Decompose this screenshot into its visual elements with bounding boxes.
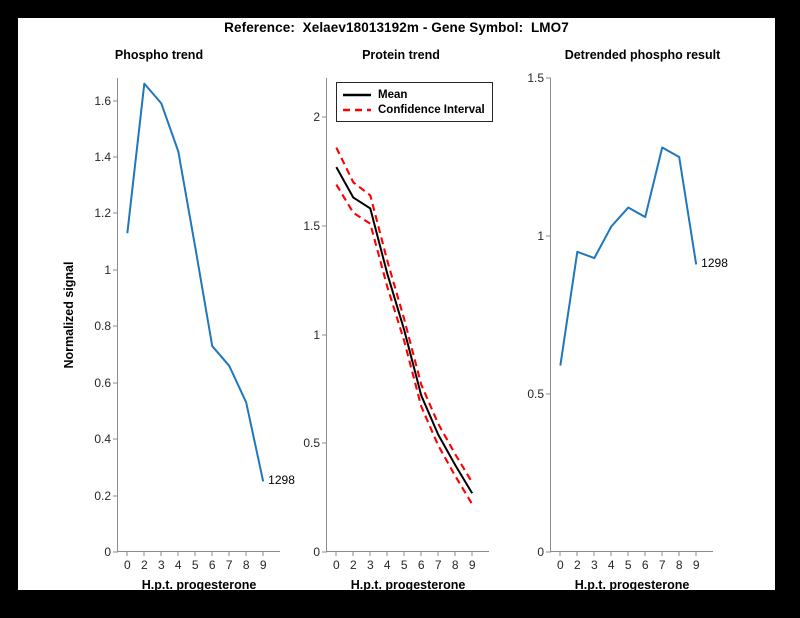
legend-label: Confidence Interval bbox=[378, 104, 485, 116]
legend: MeanConfidence Interval bbox=[336, 82, 493, 122]
y-axis-tick-mark bbox=[113, 157, 118, 158]
x-axis-tick-mark bbox=[455, 551, 456, 556]
x-axis-tick-mark bbox=[212, 551, 213, 556]
x-axis-tick-mark bbox=[560, 551, 561, 556]
y-axis-tick-mark bbox=[322, 117, 327, 118]
y-axis-tick-mark bbox=[322, 552, 327, 553]
y-axis-tick-mark bbox=[322, 443, 327, 444]
x-axis-tick-mark bbox=[178, 551, 179, 556]
y-axis-tick-mark bbox=[113, 552, 118, 553]
figure-canvas: Reference: Xelaev18013192m - Gene Symbol… bbox=[18, 18, 775, 590]
panel-title: Phospho trend bbox=[18, 48, 300, 62]
y-axis-tick-mark bbox=[546, 552, 551, 553]
series-canvas bbox=[118, 78, 281, 552]
series-line bbox=[336, 148, 472, 483]
x-axis-tick-label: 8 bbox=[452, 558, 459, 572]
x-axis-tick-mark bbox=[144, 551, 145, 556]
x-axis-tick-label: 5 bbox=[401, 558, 408, 572]
x-axis-label: H.p.t. progesterone bbox=[327, 578, 489, 592]
x-axis-tick-mark bbox=[353, 551, 354, 556]
y-axis-tick-mark bbox=[113, 213, 118, 214]
x-axis-tick-mark bbox=[679, 551, 680, 556]
x-axis-tick-mark bbox=[336, 551, 337, 556]
series-canvas bbox=[551, 78, 714, 552]
y-axis-tick-mark bbox=[113, 495, 118, 496]
x-axis-tick-mark bbox=[161, 551, 162, 556]
legend-entry[interactable]: Mean bbox=[342, 87, 485, 102]
x-axis-tick-label: 5 bbox=[192, 558, 199, 572]
x-axis-tick-mark bbox=[195, 551, 196, 556]
x-axis-tick-label: 0 bbox=[557, 558, 564, 572]
y-axis-tick-mark bbox=[546, 394, 551, 395]
x-axis-tick-label: 9 bbox=[469, 558, 476, 572]
x-axis-tick-label: 8 bbox=[243, 558, 250, 572]
x-axis-tick-label: 7 bbox=[226, 558, 233, 572]
x-axis-tick-mark bbox=[472, 551, 473, 556]
x-axis-tick-label: 4 bbox=[608, 558, 615, 572]
x-axis-tick-mark bbox=[263, 551, 264, 556]
y-axis-tick-mark bbox=[113, 100, 118, 101]
x-axis-tick-mark bbox=[438, 551, 439, 556]
panel-phospho-trend: Phospho trend Normalized signal 00.20.40… bbox=[18, 18, 300, 590]
x-axis-tick-label: 0 bbox=[333, 558, 340, 572]
series-canvas bbox=[327, 78, 490, 552]
panel-detrended-phospho-result: Detrended phospho result 00.511.50234567… bbox=[510, 18, 775, 590]
y-axis-tick-mark bbox=[322, 334, 327, 335]
plot-box: 00.511.52023456789H.p.t. progesteroneMea… bbox=[326, 78, 489, 552]
x-axis-tick-label: 5 bbox=[625, 558, 632, 572]
x-axis-tick-mark bbox=[404, 551, 405, 556]
y-axis-tick-mark bbox=[113, 382, 118, 383]
x-axis-tick-label: 7 bbox=[659, 558, 666, 572]
figure-frame: Reference: Xelaev18013192m - Gene Symbol… bbox=[0, 0, 800, 618]
dashed-line-icon bbox=[342, 105, 372, 115]
y-axis-label: Normalized signal bbox=[62, 262, 76, 369]
plot-box: 00.20.40.60.811.21.41.6023456789H.p.t. p… bbox=[117, 78, 280, 552]
x-axis-tick-label: 2 bbox=[350, 558, 357, 572]
y-axis-tick-mark bbox=[113, 326, 118, 327]
x-axis-tick-label: 4 bbox=[175, 558, 182, 572]
x-axis-label: H.p.t. progesterone bbox=[118, 578, 280, 592]
legend-entry[interactable]: Confidence Interval bbox=[342, 102, 485, 117]
x-axis-tick-mark bbox=[387, 551, 388, 556]
panel-title: Detrended phospho result bbox=[510, 48, 775, 62]
x-axis-tick-label: 9 bbox=[260, 558, 267, 572]
x-axis-tick-label: 6 bbox=[642, 558, 649, 572]
y-axis-tick-mark bbox=[546, 78, 551, 79]
series-line bbox=[336, 185, 472, 505]
x-axis-tick-mark bbox=[127, 551, 128, 556]
x-axis-tick-label: 6 bbox=[418, 558, 425, 572]
y-axis-tick-mark bbox=[322, 225, 327, 226]
x-axis-tick-label: 4 bbox=[384, 558, 391, 572]
x-axis-tick-mark bbox=[662, 551, 663, 556]
panel-protein-trend: Protein trend 00.511.52023456789H.p.t. p… bbox=[270, 18, 532, 590]
x-axis-tick-mark bbox=[628, 551, 629, 556]
x-axis-tick-label: 2 bbox=[141, 558, 148, 572]
y-axis-tick-mark bbox=[113, 269, 118, 270]
x-axis-tick-mark bbox=[246, 551, 247, 556]
x-axis-tick-mark bbox=[645, 551, 646, 556]
x-axis-tick-label: 9 bbox=[693, 558, 700, 572]
x-axis-tick-mark bbox=[611, 551, 612, 556]
x-axis-tick-mark bbox=[421, 551, 422, 556]
x-axis-tick-label: 2 bbox=[574, 558, 581, 572]
panel-title: Protein trend bbox=[270, 48, 532, 62]
x-axis-tick-mark bbox=[577, 551, 578, 556]
x-axis-tick-mark bbox=[229, 551, 230, 556]
x-axis-tick-mark bbox=[696, 551, 697, 556]
x-axis-tick-label: 0 bbox=[124, 558, 131, 572]
y-axis-tick-mark bbox=[546, 236, 551, 237]
series-end-label: 1298 bbox=[701, 256, 728, 270]
y-axis-tick-mark bbox=[113, 439, 118, 440]
solid-line-icon bbox=[342, 90, 372, 100]
x-axis-tick-label: 3 bbox=[158, 558, 165, 572]
x-axis-tick-mark bbox=[594, 551, 595, 556]
series-line bbox=[127, 84, 263, 482]
series-line bbox=[560, 148, 696, 366]
x-axis-label: H.p.t. progesterone bbox=[551, 578, 713, 592]
legend-label: Mean bbox=[378, 89, 407, 101]
plot-box: 00.511.5023456789H.p.t. progesterone1298 bbox=[550, 78, 713, 552]
x-axis-tick-label: 3 bbox=[591, 558, 598, 572]
x-axis-tick-label: 7 bbox=[435, 558, 442, 572]
plot-area: 00.20.40.60.811.21.41.6023456789H.p.t. p… bbox=[118, 78, 280, 551]
x-axis-tick-label: 3 bbox=[367, 558, 374, 572]
x-axis-tick-label: 8 bbox=[676, 558, 683, 572]
plot-area: 00.511.5023456789H.p.t. progesterone1298 bbox=[551, 78, 713, 551]
x-axis-tick-mark bbox=[370, 551, 371, 556]
plot-area: 00.511.52023456789H.p.t. progesteroneMea… bbox=[327, 78, 489, 551]
x-axis-tick-label: 6 bbox=[209, 558, 216, 572]
